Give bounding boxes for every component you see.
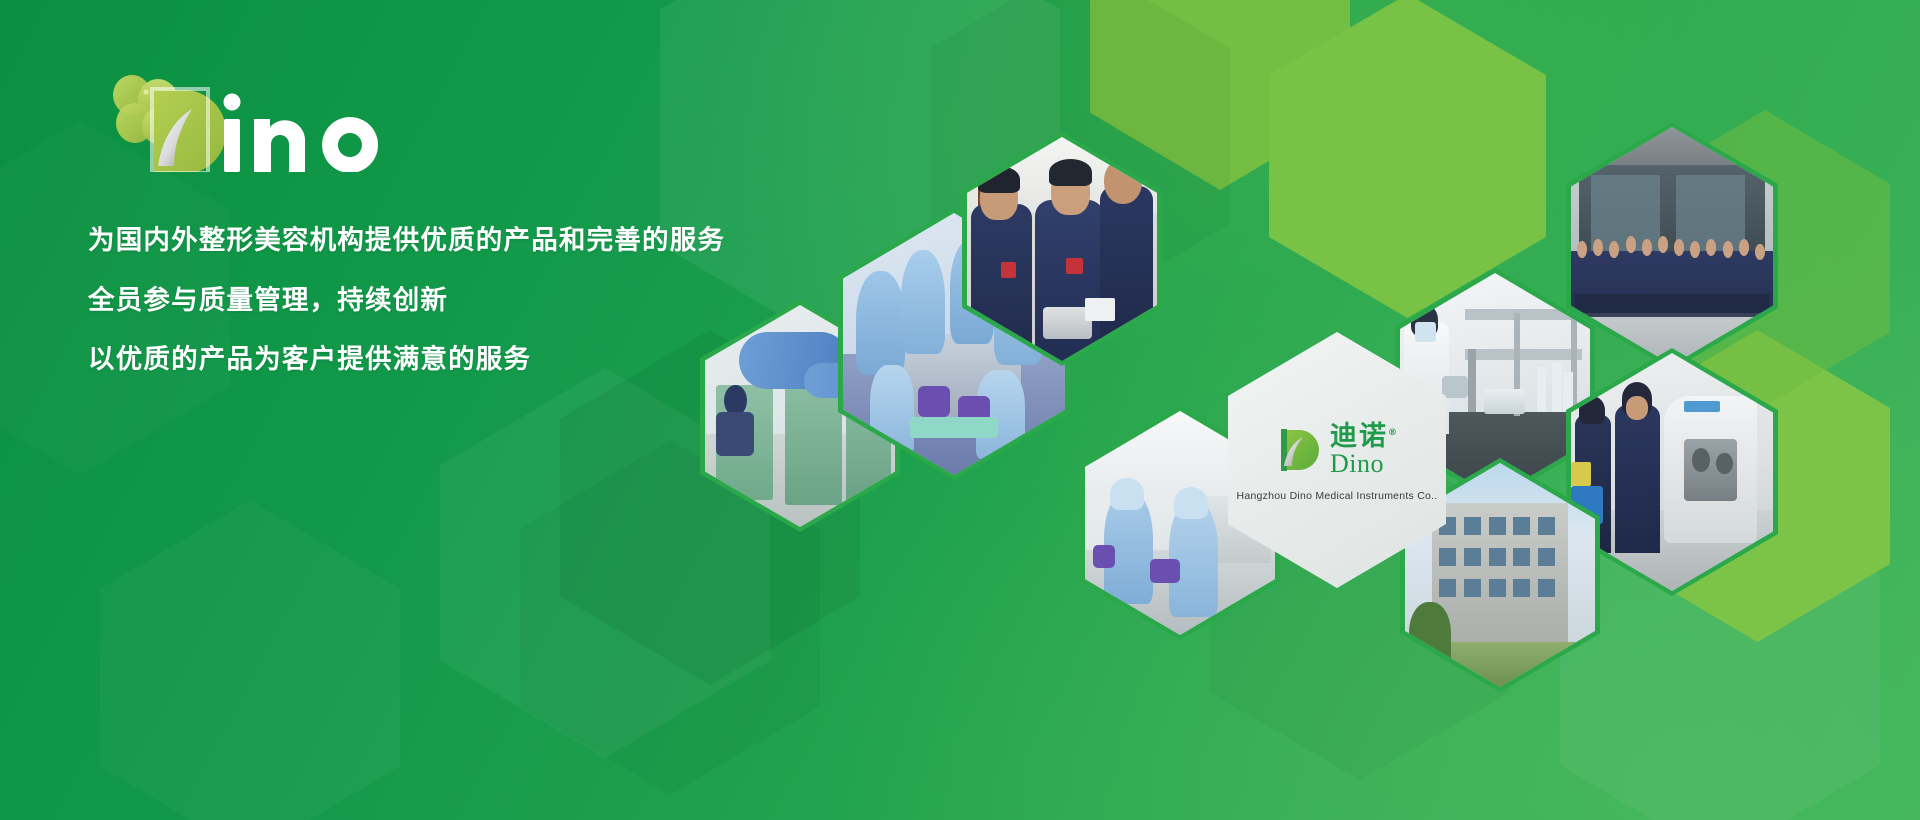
hex-brand-logo-mark: 迪诺® Dino <box>1275 423 1399 477</box>
hex-photo-team <box>1566 122 1778 370</box>
hero-banner: 为国内外整形美容机构提供优质的产品和完善的服务 全员参与质量管理，持续创新 以优… <box>0 0 1920 820</box>
hex-brand-company-name: Hangzhou Dino Medical Instruments Co.. <box>1237 490 1438 502</box>
registered-mark: ® <box>1388 428 1399 438</box>
hexagon-photo-cluster: 迪诺® Dino Hangzhou Dino Medical Instrumen… <box>0 0 1920 820</box>
hex-brand-cn-name: 迪诺® <box>1330 423 1399 450</box>
hex-brand-en-name: Dino <box>1330 451 1399 477</box>
hex-brand-d-icon <box>1275 426 1321 474</box>
